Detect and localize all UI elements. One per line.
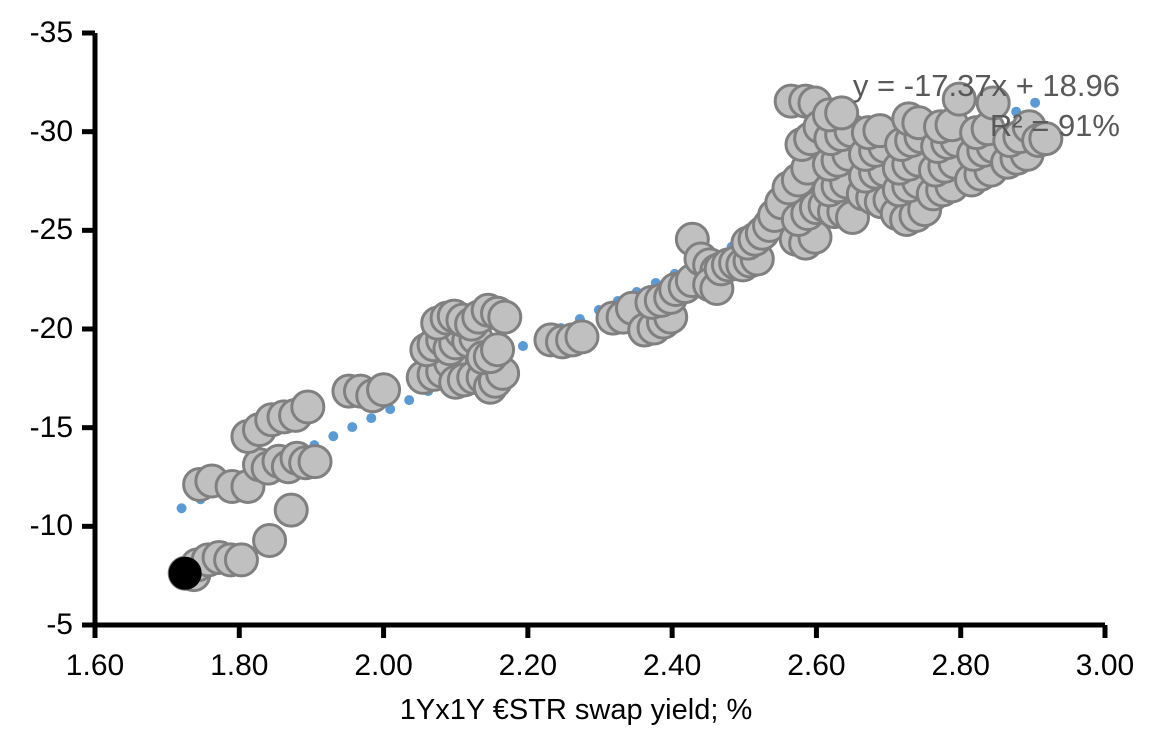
x-axis-title: 1Yx1Y €STR swap yield; % (0, 694, 1152, 727)
y-tick-label: -15 (0, 411, 73, 445)
r-squared-text: R² = 91% (853, 106, 1120, 146)
x-tick-label: 2.40 (643, 649, 701, 683)
x-tick-label: 1.60 (66, 649, 124, 683)
y-tick-label: -20 (0, 312, 73, 346)
x-tick-label: 3.00 (1076, 649, 1134, 683)
highlighted-point (170, 558, 200, 588)
regression-annotation: y = -17.37x + 18.96 R² = 91% (853, 66, 1120, 145)
y-tick-label: -25 (0, 213, 73, 247)
y-tick-label: -5 (0, 608, 73, 642)
scatter-chart: -5-10-15-20-25-30-35 1.601.802.002.202.4… (0, 0, 1152, 745)
x-tick-label: 2.20 (499, 649, 557, 683)
y-tick-label: -10 (0, 509, 73, 543)
y-tick-label: -35 (0, 16, 73, 50)
x-tick-label: 2.60 (787, 649, 845, 683)
x-tick-label: 2.80 (932, 649, 990, 683)
y-tick-label: -30 (0, 115, 73, 149)
x-tick-label: 2.00 (354, 649, 412, 683)
data-points (169, 83, 1062, 591)
x-tick-label: 1.80 (210, 649, 268, 683)
regression-equation-text: y = -17.37x + 18.96 (853, 66, 1120, 106)
